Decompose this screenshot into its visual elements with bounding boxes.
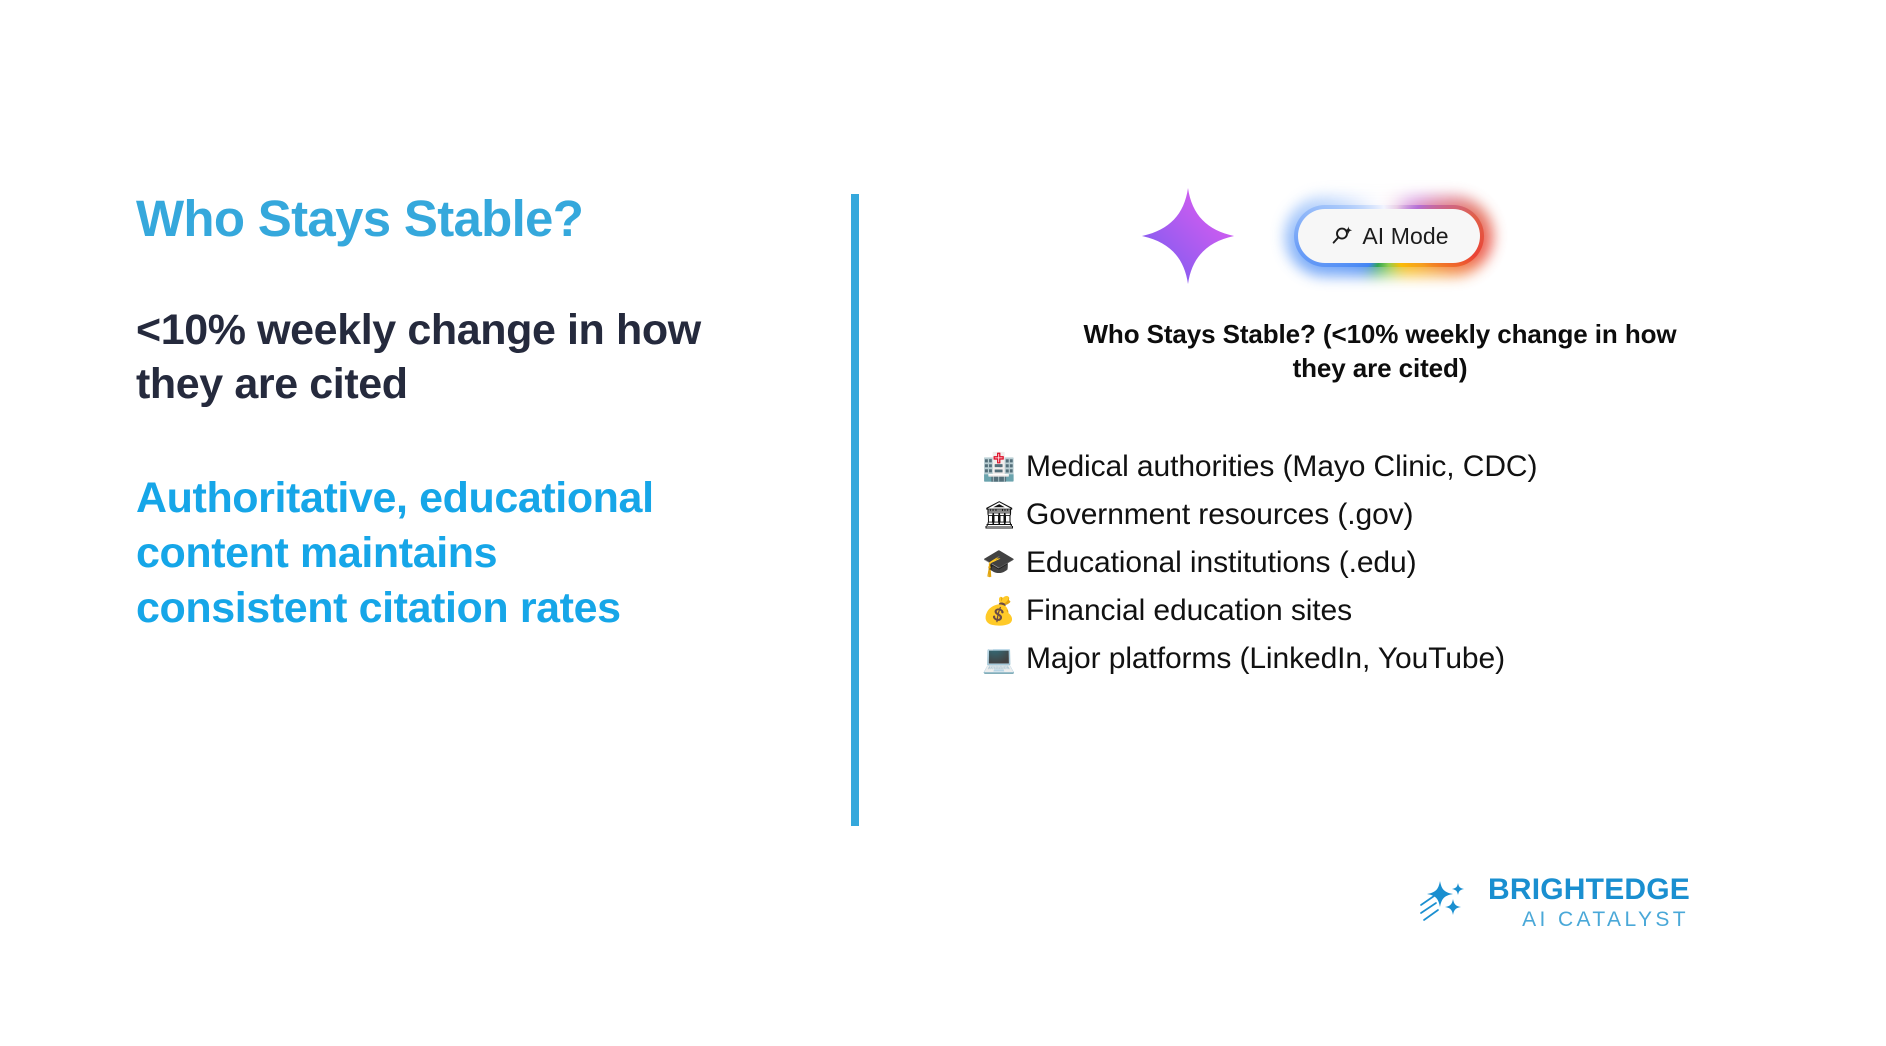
list-item-label: Financial education sites [1026,590,1352,632]
panel-title: Who Stays Stable? (<10% weekly change in… [1060,318,1700,386]
ai-mode-button[interactable]: AI Mode [1294,205,1484,267]
list-item-label: Major platforms (LinkedIn, YouTube) [1026,638,1505,680]
list-item: 🏥 Medical authorities (Mayo Clinic, CDC) [982,446,1800,488]
sparkle-star-icon [1140,186,1236,286]
money-bag-emoji: 💰 [982,593,1014,631]
vertical-divider [851,194,859,826]
brightedge-logo: BRIGHTEDGE AI CATALYST [1418,862,1678,946]
graduation-cap-emoji: 🎓 [982,545,1014,583]
ai-badge-row: AI Mode [960,180,1800,292]
stable-sources-list: 🏥 Medical authorities (Mayo Clinic, CDC)… [960,446,1800,680]
ai-mode-search-sparkle-icon [1329,224,1353,248]
classical-building-emoji: 🏛 [982,497,1014,535]
subheadline-text: <10% weekly change in how they are cited [136,303,726,411]
list-item: 🎓 Educational institutions (.edu) [982,542,1800,584]
laptop-emoji: 💻 [982,641,1014,679]
ai-mode-label: AI Mode [1362,225,1448,248]
page-title: Who Stays Stable? [136,190,756,247]
list-item: 💰 Financial education sites [982,590,1800,632]
logo-tagline: AI CATALYST [1522,906,1689,933]
left-content-column: Who Stays Stable? <10% weekly change in … [136,190,756,635]
slide-root: Who Stays Stable? <10% weekly change in … [0,0,1886,1046]
right-content-column: AI Mode Who Stays Stable? (<10% weekly c… [960,180,1800,686]
logo-wordmark: BRIGHTEDGE [1488,874,1690,906]
kicker-text: Authoritative, educational content maint… [136,471,696,635]
list-item-label: Government resources (.gov) [1026,494,1413,536]
list-item-label: Educational institutions (.edu) [1026,542,1416,584]
list-item-label: Medical authorities (Mayo Clinic, CDC) [1026,446,1537,488]
logo-text-block: BRIGHTEDGE AI CATALYST [1488,874,1690,933]
list-item: 💻 Major platforms (LinkedIn, YouTube) [982,638,1800,680]
ai-mode-pill-inner[interactable]: AI Mode [1298,209,1480,263]
sparkle-trail-icon [1418,875,1476,933]
list-item: 🏛 Government resources (.gov) [982,494,1800,536]
hospital-emoji: 🏥 [982,449,1014,487]
